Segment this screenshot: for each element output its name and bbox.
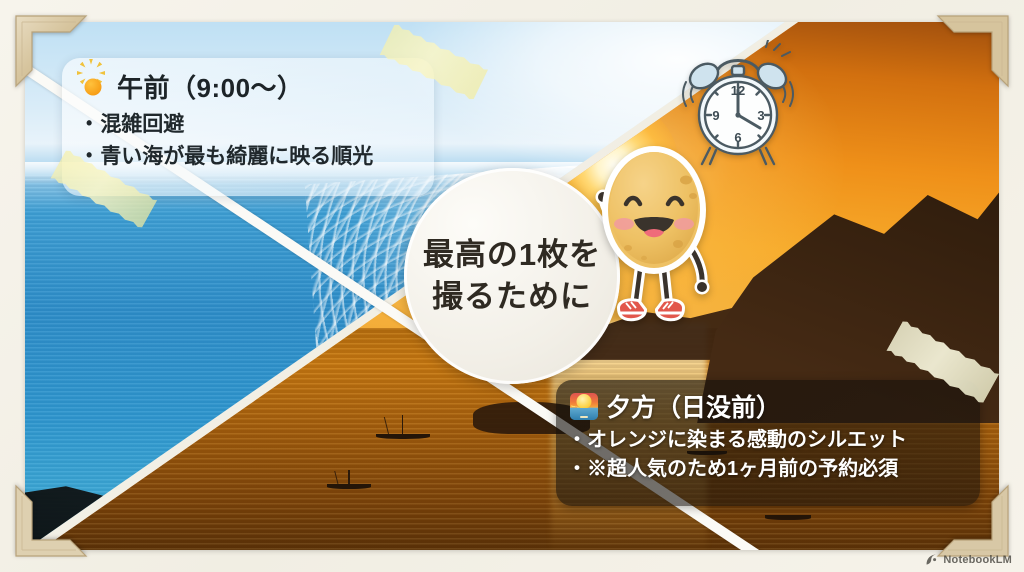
bullet-text: ※超人気のため1ヶ月前の予約必須 bbox=[587, 455, 898, 484]
clock-number-6: 6 bbox=[734, 130, 741, 145]
sunset-boat-4 bbox=[765, 508, 811, 520]
center-badge-line-2: 撮るために bbox=[432, 276, 592, 318]
notebooklm-logo-icon bbox=[925, 553, 938, 566]
card-morning-bullets: • 混雑回避 • 青い海が最も綺麗に映る順光 bbox=[78, 109, 418, 172]
clock-number-3: 3 bbox=[757, 108, 764, 123]
bullet-text: オレンジに染まる感動のシルエット bbox=[587, 426, 907, 455]
slide-canvas: 午前（9:00〜） • 混雑回避 • 青い海が最も綺麗に映る順光 夕方（日没前） bbox=[0, 0, 1024, 572]
corner-bracket-bottom-left bbox=[14, 484, 88, 558]
bullet-marker: • bbox=[86, 109, 92, 138]
card-evening-title: 夕方（日没前） bbox=[606, 388, 781, 424]
info-card-morning: 午前（9:00〜） • 混雑回避 • 青い海が最も綺麗に映る順光 bbox=[62, 58, 434, 196]
corner-bracket-top-left bbox=[14, 14, 88, 88]
list-item: • 混雑回避 bbox=[78, 109, 418, 141]
corner-bracket-top-right bbox=[936, 14, 1010, 88]
corner-bracket-bottom-right bbox=[936, 484, 1010, 558]
notebooklm-watermark: NotebookLM bbox=[925, 553, 1012, 566]
clock-number-12: 12 bbox=[731, 83, 745, 98]
center-badge-line-1: 最高の1枚を bbox=[423, 234, 601, 276]
sunset-sailboat-1 bbox=[376, 423, 430, 439]
watermark-label: NotebookLM bbox=[943, 554, 1012, 566]
card-morning-title: 午前（9:00〜） bbox=[117, 68, 304, 105]
card-evening-header: 夕方（日没前） bbox=[570, 388, 966, 424]
card-morning-header: 午前（9:00〜） bbox=[78, 68, 418, 105]
bullet-text: 混雑回避 bbox=[100, 109, 184, 141]
sunset-sailboat-2 bbox=[327, 476, 371, 489]
bullet-marker: • bbox=[574, 426, 580, 452]
potato-mascot bbox=[582, 132, 734, 336]
card-evening-bullets: • オレンジに染まる感動のシルエット • ※超人気のため1ヶ月前の予約必須 bbox=[570, 426, 966, 484]
clock-number-9: 9 bbox=[712, 108, 719, 123]
info-card-evening: 夕方（日没前） • オレンジに染まる感動のシルエット • ※超人気のため1ヶ月前… bbox=[556, 380, 980, 506]
bullet-marker: • bbox=[574, 455, 580, 481]
list-item: • ※超人気のため1ヶ月前の予約必須 bbox=[570, 455, 966, 484]
list-item: • オレンジに染まる感動のシルエット bbox=[570, 426, 966, 455]
bullet-text: 青い海が最も綺麗に映る順光 bbox=[100, 141, 373, 173]
list-item: • 青い海が最も綺麗に映る順光 bbox=[78, 141, 418, 173]
sunrise-icon bbox=[570, 393, 598, 420]
